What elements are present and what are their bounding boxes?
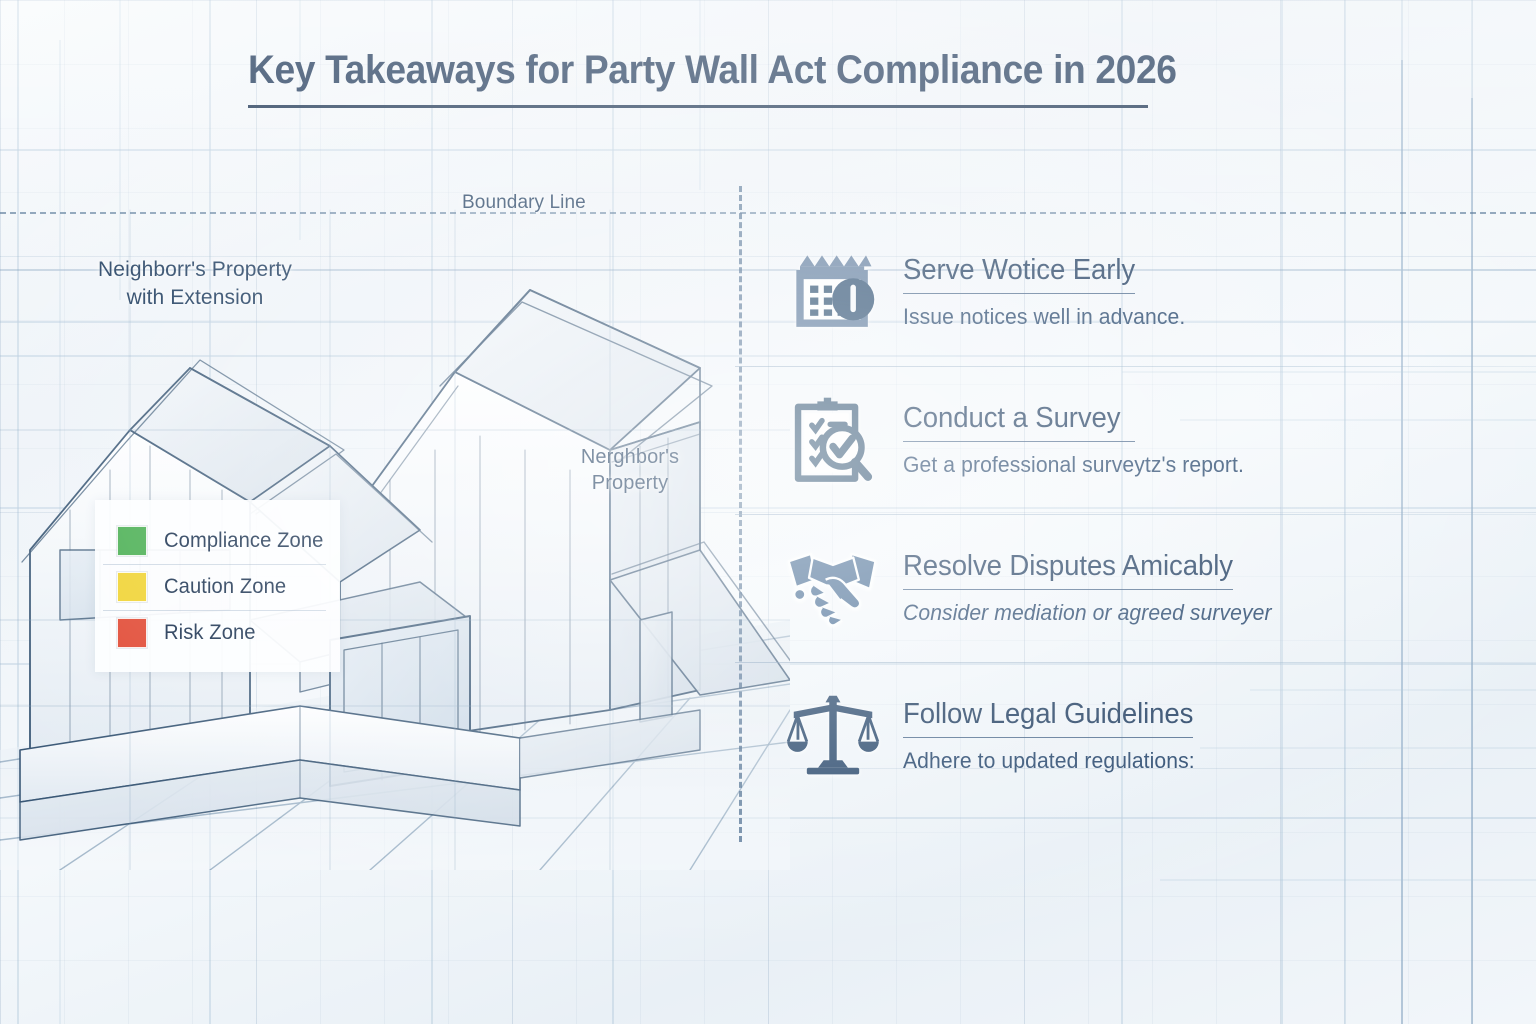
takeaway-item: Resolve Disputes Amicably Consider media… [739,514,1536,662]
legend-item-label: Risk Zone [164,621,256,645]
takeaway-underline [903,737,1193,739]
takeaway-text: Resolve Disputes Amicably Consider media… [881,550,1287,627]
takeaway-subtitle: Consider mediation or agreed surveyer [903,600,1272,626]
infographic-canvas: Key Takeaways for Party Wall Act Complia… [0,0,1536,1024]
title-block: Key Takeaways for Party Wall Act Complia… [248,48,1153,108]
takeaway-item: Serve Wotice Early Issue notices well in… [739,218,1536,366]
clipboard-magnifier-check-icon [785,394,881,486]
caution-zone-swatch [117,572,147,602]
title-underline [248,105,1148,108]
takeaways-list: Serve Wotice Early Issue notices well in… [739,218,1536,842]
takeaway-title: Conduct a Survey [903,402,1240,435]
right-property-label: Nerghbor's Property [560,444,700,497]
boundary-line-label: Boundary Line [462,190,612,215]
legend-item-risk: Risk Zone [95,610,340,656]
calendar-clock-icon [785,246,881,338]
takeaway-underline [903,589,1233,591]
takeaway-text: Serve Wotice Early Issue notices well in… [881,254,1197,331]
takeaway-item: Conduct a Survey Get a professional surv… [739,366,1536,514]
takeaway-underline [903,441,1135,443]
takeaway-title: Follow Legal Guidelines [903,698,1193,731]
compliance-zone-swatch [117,526,147,556]
boundary-line-horizontal [0,212,1536,214]
legend-item-caution: Caution Zone [95,564,340,610]
takeaway-text: Conduct a Survey Get a professional surv… [881,402,1258,479]
takeaway-title: Resolve Disputes Amicably [903,550,1268,583]
legend-item-label: Compliance Zone [164,529,323,553]
left-property-label: Neighborr's Property with Extension [80,256,310,311]
takeaway-title: Serve Wotice Early [903,254,1182,287]
legend-item-compliance: Compliance Zone [95,518,340,564]
takeaway-subtitle: Adhere to updated regulations: [903,748,1196,774]
scales-of-justice-icon [785,690,881,782]
legend-item-label: Caution Zone [164,575,286,599]
takeaway-subtitle: Get a professional surveytz's report. [903,452,1244,478]
takeaway-underline [903,293,1135,295]
takeaway-subtitle: Issue notices well in advance. [903,304,1185,330]
risk-zone-swatch [117,618,147,648]
takeaway-text: Follow Legal Guidelines Adhere to update… [881,698,1209,775]
zone-legend: Compliance Zone Caution Zone Risk Zone [95,500,340,672]
page-title: Key Takeaways for Party Wall Act Complia… [248,48,1090,93]
handshake-icon [785,542,881,634]
takeaway-item: Follow Legal Guidelines Adhere to update… [739,662,1536,810]
